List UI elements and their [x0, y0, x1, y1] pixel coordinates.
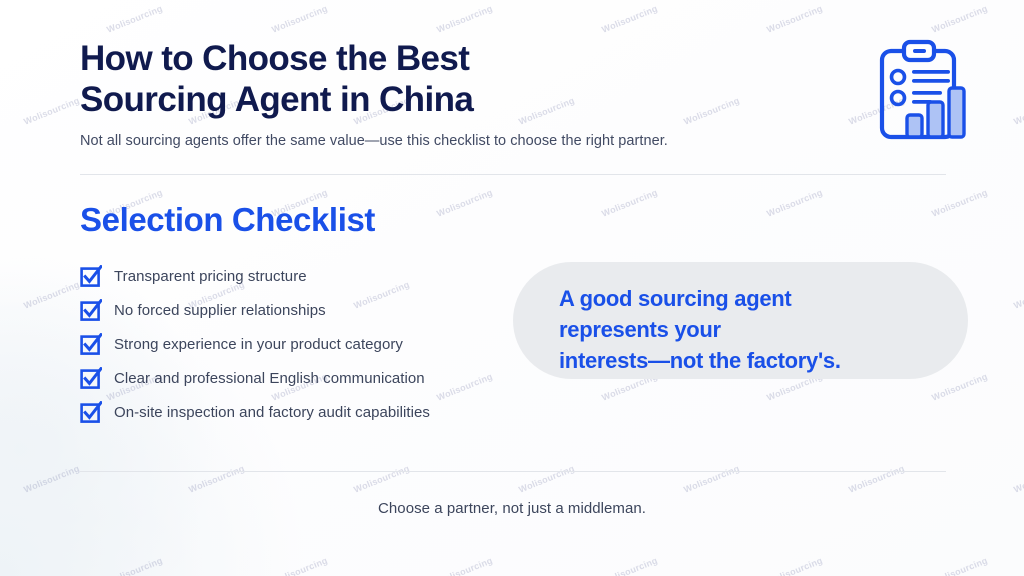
infographic-poster: WolisourcingWolisourcingWolisourcingWoli… [0, 0, 1024, 576]
checkbox-checked-icon [80, 333, 102, 355]
watermark-text: Wolisourcing [1012, 95, 1024, 126]
callout-text: A good sourcing agent represents your in… [559, 283, 949, 376]
watermark-text: Wolisourcing [600, 187, 659, 218]
list-item: Clear and professional English communica… [80, 361, 430, 395]
watermark-text: Wolisourcing [22, 279, 81, 310]
list-item-label: Clear and professional English communica… [114, 370, 425, 387]
watermark-text: Wolisourcing [22, 95, 81, 126]
watermark-text: Wolisourcing [105, 555, 164, 576]
watermark-text: Wolisourcing [22, 463, 81, 494]
section-heading: Selection Checklist [80, 200, 375, 240]
watermark-text: Wolisourcing [930, 3, 989, 34]
list-item-label: On-site inspection and factory audit cap… [114, 404, 430, 421]
page-subtitle: Not all sourcing agents offer the same v… [80, 131, 780, 151]
watermark-text: Wolisourcing [1012, 463, 1024, 494]
callout-line-1: A good sourcing agent [559, 286, 791, 311]
list-item: Transparent pricing structure [80, 259, 430, 293]
page-title-line-2: Sourcing Agent in China [80, 80, 473, 119]
watermark-text: Wolisourcing [517, 463, 576, 494]
list-item-label: Strong experience in your product catego… [114, 336, 403, 353]
watermark-text: Wolisourcing [765, 555, 824, 576]
watermark-text: Wolisourcing [600, 3, 659, 34]
checkbox-checked-icon [80, 367, 102, 389]
watermark-text: Wolisourcing [765, 3, 824, 34]
checkbox-checked-icon [80, 265, 102, 287]
checkbox-checked-icon [80, 299, 102, 321]
watermark-text: Wolisourcing [930, 555, 989, 576]
watermark-text: Wolisourcing [1012, 279, 1024, 310]
watermark-text: Wolisourcing [352, 463, 411, 494]
watermark-text: Wolisourcing [930, 187, 989, 218]
clipboard-chart-icon [876, 38, 968, 142]
list-item-label: No forced supplier relationships [114, 302, 326, 319]
list-item: No forced supplier relationships [80, 293, 430, 327]
watermark-text: Wolisourcing [435, 555, 494, 576]
watermark-text: Wolisourcing [270, 3, 329, 34]
page-title: How to Choose the Best Sourcing Agent in… [80, 38, 780, 120]
watermark-text: Wolisourcing [187, 463, 246, 494]
list-item: Strong experience in your product catego… [80, 327, 430, 361]
watermark-text: Wolisourcing [435, 187, 494, 218]
watermark-text: Wolisourcing [682, 463, 741, 494]
callout-line-3: interests—not the factory's. [559, 348, 841, 373]
page-title-line-1: How to Choose the Best [80, 39, 469, 78]
divider-top [80, 174, 946, 175]
watermark-text: Wolisourcing [600, 555, 659, 576]
callout-line-2: represents your [559, 317, 721, 342]
watermark-text: Wolisourcing [270, 555, 329, 576]
footer-text: Choose a partner, not just a middleman. [0, 500, 1024, 517]
watermark-text: Wolisourcing [435, 3, 494, 34]
selection-checklist: Transparent pricing structure No forced … [80, 259, 430, 429]
watermark-text: Wolisourcing [105, 3, 164, 34]
checkbox-checked-icon [80, 401, 102, 423]
header: How to Choose the Best Sourcing Agent in… [80, 38, 780, 151]
watermark-text: Wolisourcing [435, 371, 494, 402]
watermark-text: Wolisourcing [847, 463, 906, 494]
list-item-label: Transparent pricing structure [114, 268, 307, 285]
divider-bottom [80, 471, 946, 472]
watermark-text: Wolisourcing [765, 187, 824, 218]
list-item: On-site inspection and factory audit cap… [80, 395, 430, 429]
